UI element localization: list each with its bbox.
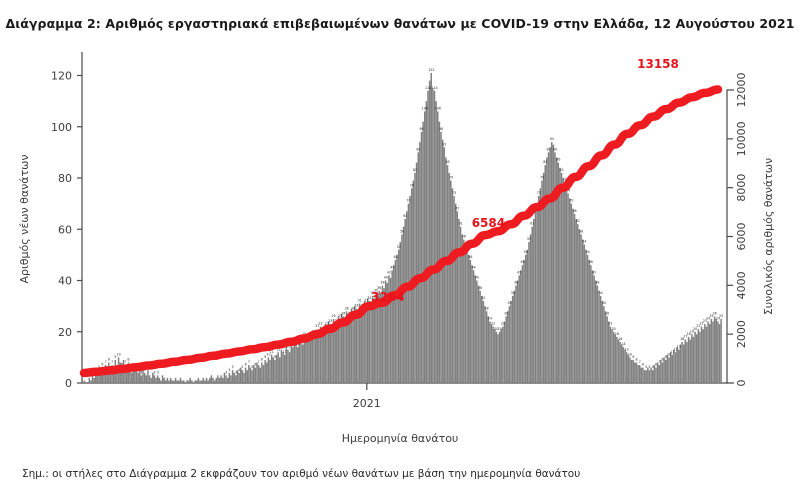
bar [435,101,437,383]
bar-value-label: 14 [621,342,625,346]
bar-value-label: 36 [478,286,482,290]
bar [525,255,527,383]
chart-plot-area: 020406080100120Αριθμός νέων θανάτων02000… [0,0,800,498]
bar [501,329,503,383]
bar [471,265,473,383]
bar [580,234,582,383]
bar [165,380,167,383]
bar [632,360,634,383]
bar-value-label: 3 [157,370,159,374]
bar [699,332,701,383]
bar [483,301,485,383]
bar-value-label: 6 [655,363,657,367]
bar [688,337,690,383]
bar [356,309,358,383]
bar [567,193,569,383]
bar-value-label: 3 [235,370,237,374]
bar [242,370,244,383]
bar [531,227,533,383]
bar [246,370,248,383]
bar [517,281,519,384]
bar [553,145,555,383]
y2-axis-tick-label: 0 [735,380,748,387]
bar [216,378,218,383]
bar [605,311,607,383]
bar-value-label: 8 [127,358,129,362]
bar [548,152,550,383]
bar-value-label: 7 [639,360,641,364]
bar [624,350,626,383]
bar [566,188,568,383]
bar [131,373,133,383]
bar-value-label: 58 [400,229,404,233]
bar [628,355,630,383]
bar [93,378,95,383]
bar [514,291,516,383]
chart-footnote: Σημ.: οι στήλες στο Διάγραμμα 2 εκφράζου… [22,468,782,480]
bar [237,370,239,383]
bar-value-label: 55 [527,237,531,241]
bar [191,380,193,383]
bar [533,219,535,383]
bar [681,342,683,383]
bar [629,357,631,383]
bar-value-label: 5 [232,365,234,369]
bar-value-label: 48 [393,255,397,259]
bar [194,380,196,383]
bar [634,363,636,384]
bar [616,337,618,383]
bar [672,355,674,383]
bar-value-label: 79 [449,176,453,180]
bar [689,339,691,383]
bar [167,378,169,383]
y2-axis-tick-label: 2000 [735,320,748,348]
bar [147,370,149,383]
y-axis-tick-label: 20 [58,326,72,339]
bar [339,319,341,383]
bar [437,111,439,383]
bar [610,327,612,383]
bar-value-label: 50 [586,250,590,254]
bar-value-label: 16 [618,337,622,341]
bar [590,265,592,383]
bar-value-label: 66 [573,209,577,213]
bar [644,370,646,383]
bar-value-label: 29 [354,304,358,308]
x-axis-tick-label: 2021 [353,397,381,410]
bar [450,181,452,383]
bar-value-label: 7 [248,360,250,364]
bar [611,329,613,383]
bar-value-label: 38 [380,281,384,285]
bar-value-label: 34 [599,291,603,295]
bar [178,380,180,383]
bar [595,281,597,384]
bar-value-label: 90 [547,147,551,151]
bar [652,370,654,383]
bar [393,265,395,383]
bar [300,342,302,383]
bar [426,101,428,383]
bar [470,260,472,383]
bar [509,306,511,383]
bar [572,209,574,383]
bar-value-label: 30 [507,301,511,305]
bar [211,375,213,383]
bar-value-label: 22 [608,322,612,326]
bar [474,275,476,383]
bar-value-label: 3 [225,370,227,374]
bar-value-label: 8 [108,358,110,362]
bar-value-label: 11 [283,350,287,354]
bar [457,211,459,383]
y-axis-tick-label: 0 [65,377,72,390]
bar-value-label: 9 [274,355,276,359]
bar [269,360,271,383]
bar-value-label: 90 [553,147,557,151]
bar [349,316,351,383]
bar [422,122,424,383]
bar-value-label: 86 [556,158,560,162]
bar [134,370,136,383]
bar [585,250,587,383]
bar-value-label: 9 [632,355,634,359]
bar [584,245,586,383]
bar [431,73,433,383]
bar [540,188,542,383]
bar [377,296,379,383]
bar [268,357,270,383]
bar-value-label: 106 [435,106,441,110]
bar [720,319,722,383]
bar [621,345,623,383]
bar [395,260,397,383]
bar [714,316,716,383]
bar [227,378,229,383]
bar [489,322,491,384]
bar [434,91,436,383]
bar [374,298,376,383]
bar-value-label: 4 [238,368,240,372]
bar [663,357,665,383]
bar [667,355,669,383]
bar [369,301,371,383]
bar-value-label: 28 [485,306,489,310]
bar [307,342,309,383]
bar [408,204,410,383]
bar [452,188,454,383]
bar [163,378,165,383]
bar [295,345,297,383]
bar [642,368,644,383]
bar-value-label: 4 [228,368,230,372]
bar [141,375,143,383]
bar [623,347,625,383]
bar [453,196,455,383]
bar-value-label: 82 [413,168,417,172]
bar [396,255,398,383]
bar [645,370,647,383]
bar [631,360,633,383]
bar [255,368,257,383]
bar-value-label: 62 [576,219,580,223]
bar [683,345,685,383]
bar [294,342,296,383]
bar-value-label: 6 [101,363,103,367]
total-mid-label: 6584 [472,216,505,230]
bar-value-label: 3 [153,370,155,374]
bar [352,311,354,383]
bar [271,355,273,383]
bar-value-label: 114 [432,86,438,90]
bar [492,327,494,383]
bar-value-label: 26 [341,311,345,315]
bar-value-label: 7 [658,360,660,364]
bar [712,322,714,384]
bar [588,260,590,383]
bar [406,211,408,383]
bar [639,365,641,383]
bar [222,378,224,383]
bar-value-label: 6 [245,363,247,367]
bar-value-label: 82 [560,168,564,172]
bar-value-label: 40 [475,276,479,280]
bar [175,378,177,383]
bar [181,380,183,383]
bar [626,352,628,383]
bar-value-label: 34 [511,291,515,295]
bar [176,380,178,383]
bar [649,370,651,383]
bar [203,378,205,383]
bar [243,373,245,383]
bar [429,81,431,383]
bar [673,350,675,383]
bar [217,375,219,383]
bar [274,360,276,383]
bar [313,334,315,383]
bar [510,301,512,383]
bar [515,286,517,383]
bar-value-label: 106 [422,106,428,110]
bar [344,319,346,383]
bar-value-label: 28 [345,306,349,310]
bar [562,178,564,383]
bar [90,380,92,383]
bar [600,296,602,383]
bar [245,368,247,383]
bar-value-label: 8 [662,358,664,362]
bar [619,342,621,383]
bar [400,242,402,383]
bar-value-label: 42 [387,270,391,274]
bar [618,339,620,383]
bar-value-label: 6 [254,363,256,367]
bar [149,375,151,383]
bar [232,370,234,383]
bar [261,363,263,384]
y2-axis-tick-label: 8000 [735,174,748,202]
bar [170,378,172,383]
bar [282,352,284,383]
bar-value-label: 46 [520,260,524,264]
bar-value-label: 7 [105,360,107,364]
bar [693,337,695,383]
bar [172,380,174,383]
bar [571,204,573,383]
bar [302,345,304,383]
bar [486,311,488,383]
bar-value-label: 7 [258,360,260,364]
bar [229,373,231,383]
bar-value-label: 10 [117,352,121,356]
bar [637,365,639,383]
bar-value-label: 8 [261,358,263,362]
bar [258,365,260,383]
bar [362,309,364,383]
bar [465,245,467,383]
bar-value-label: 25 [719,314,723,318]
bar [266,363,268,384]
bar [173,380,175,383]
bar [310,337,312,383]
bar [225,375,227,383]
bar-value-label: 50 [524,250,528,254]
bar-value-label: 79 [540,176,544,180]
bar [92,375,94,383]
bar [279,357,281,383]
bar-value-label: 5 [652,365,654,369]
bar-value-label: 73 [537,191,541,195]
bar [468,255,470,383]
bar [251,370,253,383]
bar [204,380,206,383]
bar [281,350,283,383]
chart-container: Διάγραμμα 2: Αριθμός εργαστηριακά επιβεβ… [0,0,800,498]
bar [709,324,711,383]
bar [538,196,540,383]
bar [162,375,164,383]
bar [704,324,706,383]
bar-value-label: 30 [602,301,606,305]
total-start-label: 3264 [371,290,404,304]
bar [512,296,514,383]
bar [292,347,294,383]
bar [587,255,589,383]
bar [615,334,617,383]
bar [391,270,393,383]
bar-value-label: 5 [241,365,243,369]
bar [473,270,475,383]
bar [284,355,286,383]
bar-value-label: 48 [468,255,472,259]
y-axis-tick-label: 120 [51,70,72,83]
bar [150,378,152,383]
bar [502,327,504,383]
bar [290,345,292,383]
bar-value-label: 13 [677,345,681,349]
bar-value-label: 12 [625,347,629,351]
bar-value-label: 18 [615,332,619,336]
bar [220,375,222,383]
bar [592,270,594,383]
bar [427,91,429,383]
bar [289,352,291,383]
bar [706,327,708,383]
bar [654,365,656,383]
total-end-label: 13158 [637,57,679,71]
bar-value-label: 85 [446,160,450,164]
bar [577,224,579,383]
bar [549,147,551,383]
bar-value-label: 5 [645,365,647,369]
bar [154,375,156,383]
bar-value-label: 38 [595,281,599,285]
bar [658,365,660,383]
bar [507,311,509,383]
bar [144,373,146,383]
bar [458,219,460,383]
bar [188,380,190,383]
bar [315,337,317,383]
bar [694,332,696,383]
bar [655,368,657,383]
bar [421,132,423,383]
bar [183,380,185,383]
bar [401,234,403,383]
bar [238,373,240,383]
bar-value-label: 67 [455,206,459,210]
bar-value-label: 73 [452,191,456,195]
bar [447,165,449,383]
bar [496,332,498,383]
bar [564,183,566,383]
bar [416,163,418,383]
bar-value-label: 26 [605,311,609,315]
bar [403,227,405,383]
bar-value-label: 24 [488,317,492,321]
bar-series [84,73,722,383]
bar [505,316,507,383]
bar-value-label: 40 [384,276,388,280]
bar [84,380,86,383]
y-axis-tick-label: 40 [58,275,72,288]
bar [214,380,216,383]
bar [404,219,406,383]
bar [206,378,208,383]
bar [603,306,605,383]
bar [318,332,320,383]
bar [89,378,91,383]
bar-value-label: 31 [358,299,362,303]
bar-value-label: 22 [491,322,495,326]
bar [157,375,159,383]
bar [248,365,250,383]
bar-value-label: 42 [517,270,521,274]
bar [230,375,232,383]
bar-value-label: 114 [425,86,431,90]
bar-value-label: 44 [390,265,394,269]
bar [717,322,719,384]
bar [491,324,493,383]
bar [336,324,338,383]
bar [432,88,434,383]
bar-value-label: 25 [332,314,336,318]
bar [277,352,279,383]
bar [582,240,584,384]
bar [160,380,162,383]
